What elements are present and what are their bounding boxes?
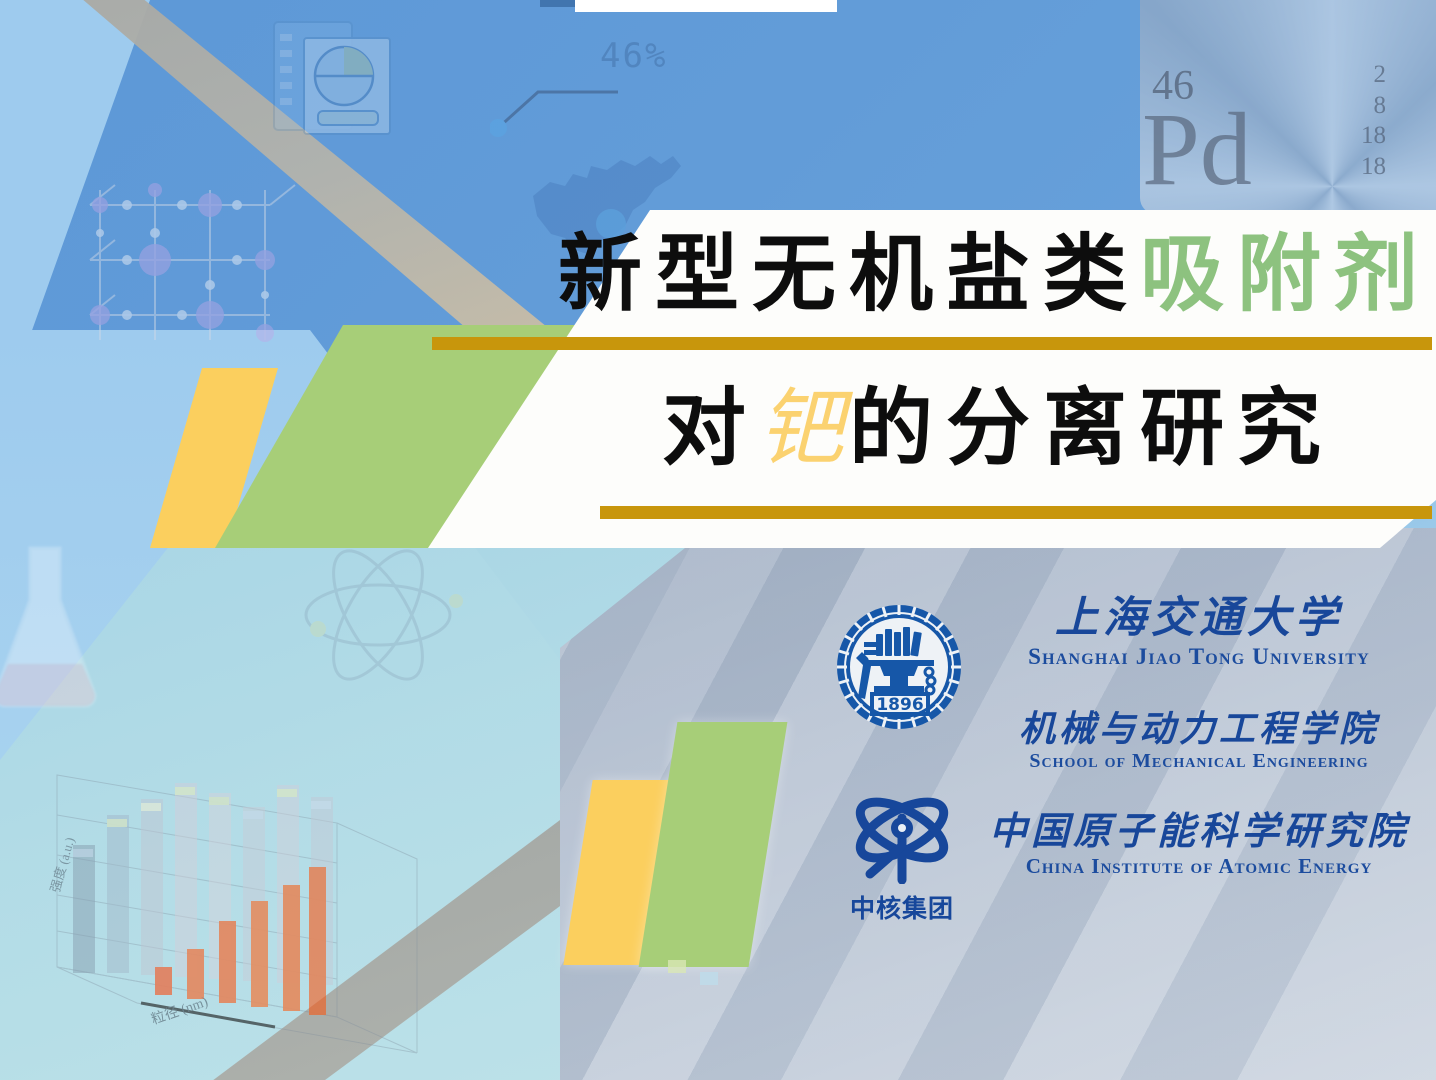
title-rule-top <box>432 337 1432 350</box>
title-line-2-suffix: 的分离研究 <box>849 379 1334 477</box>
sjtu-seal-logo: 1896 <box>834 602 964 732</box>
cnnc-atom-icon <box>836 788 968 884</box>
affiliation-text-column: 上海交通大学 Shanghai Jiao Tong University 机械与… <box>974 596 1424 879</box>
callout-percent-label: 46% <box>600 36 667 76</box>
title-line-2-highlight: 钯 <box>759 379 849 477</box>
affiliation-en-2: School of Mechanical Engineering <box>974 750 1424 773</box>
title-line-1: 新型无机盐类吸附剂 <box>558 232 1431 316</box>
affiliation-cn-3: 中国原子能科学研究院 <box>974 811 1424 851</box>
title-line-1-highlight: 吸附剂 <box>1140 225 1431 323</box>
lab-flask-icon <box>0 540 100 710</box>
report-pie-chart-icon <box>270 18 395 143</box>
pd-electron-shells: 2 8 18 18 <box>1350 60 1386 182</box>
affiliation-en-3: China Institute of Atomic Energy <box>974 854 1424 879</box>
sjtu-seal-year: 1896 <box>876 695 923 715</box>
crystal-lattice-icon <box>70 165 300 365</box>
affiliation-spacer-2 <box>974 773 1424 811</box>
mini-cube-blue <box>700 972 718 985</box>
atom-orbital-icon <box>290 545 465 685</box>
top-white-sliver <box>575 0 837 12</box>
affiliation-spacer-1 <box>974 670 1424 710</box>
title-line-2-prefix: 对 <box>662 379 759 477</box>
cnnc-logo: 中核集团 <box>836 788 968 916</box>
affiliation-cn-2: 机械与动力工程学院 <box>974 710 1424 748</box>
title-rule-bottom <box>600 506 1432 519</box>
callout-leader-line <box>490 78 620 138</box>
infographic-callout: 46% <box>600 36 667 76</box>
cnnc-label: 中核集团 <box>836 889 968 925</box>
affiliation-en-1: Shanghai Jiao Tong University <box>974 644 1424 670</box>
pd-element-symbol: Pd <box>1142 98 1252 202</box>
mini-cube-green <box>668 960 686 973</box>
background-3d-bar-chart: 粒径 (nm) 强度 (a.u.) <box>45 735 435 1065</box>
affiliation-block: 1896 中核集团 上海交通大学 Shanghai Jiao Tong Univ… <box>824 596 1424 936</box>
title-text-group: 新型无机盐类吸附剂 对钯的分离研究 <box>428 210 1436 548</box>
title-line-1-black: 新型无机盐类 <box>558 225 1140 323</box>
title-line-2: 对钯的分离研究 <box>662 386 1334 470</box>
affiliation-cn-1: 上海交通大学 <box>974 596 1424 642</box>
title-slide: 46 Pd 2 8 18 18 46% <box>0 0 1436 1080</box>
